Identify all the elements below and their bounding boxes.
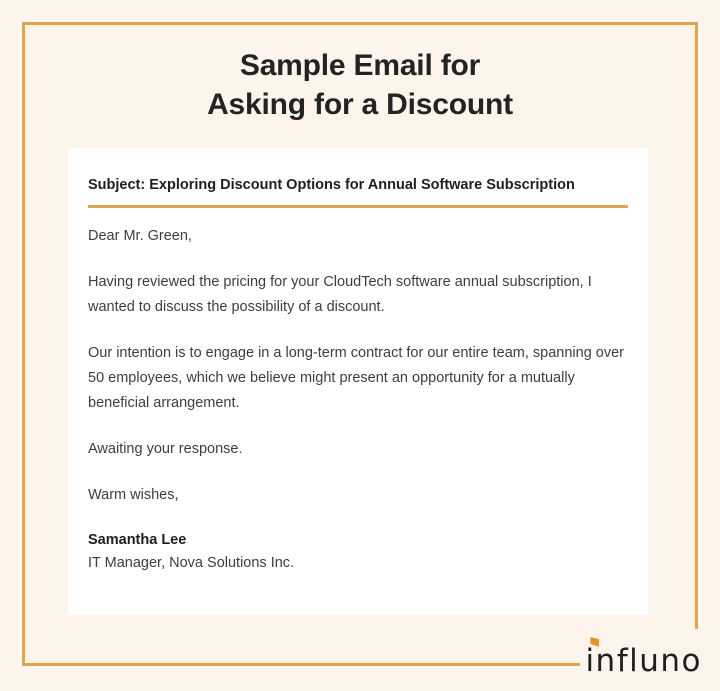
page-title: Sample Email for Asking for a Discount — [22, 46, 698, 124]
poster-canvas: Sample Email for Asking for a Discount S… — [0, 0, 720, 691]
page-title-line-2: Asking for a Discount — [22, 85, 698, 124]
influno-flag-icon — [590, 637, 599, 647]
email-paragraph-rationale: Our intention is to engage in a long-ter… — [88, 341, 628, 416]
influno-wordmark: influno — [585, 646, 702, 677]
email-body: Dear Mr. Green, Having reviewed the pric… — [88, 208, 628, 575]
page-title-line-1: Sample Email for — [22, 46, 698, 85]
email-paragraph-closing-request: Awaiting your response. — [88, 437, 628, 462]
email-subject: Subject: Exploring Discount Options for … — [88, 174, 628, 196]
email-paragraph-context: Having reviewed the pricing for your Clo… — [88, 270, 628, 320]
email-card: Subject: Exploring Discount Options for … — [68, 148, 648, 615]
email-paragraph-greeting: Dear Mr. Green, — [88, 224, 628, 249]
signature-name: Samantha Lee — [88, 529, 628, 552]
email-paragraph-signoff: Warm wishes, — [88, 483, 628, 508]
signature-role: IT Manager, Nova Solutions Inc. — [88, 552, 628, 575]
influno-logo: influno — [585, 637, 702, 677]
